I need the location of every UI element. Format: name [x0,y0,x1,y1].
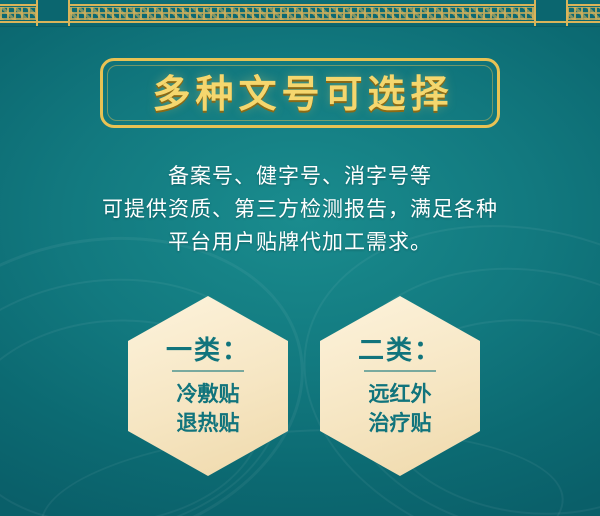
category-card-2-items: 远红外 治疗贴 [320,380,480,438]
border-rule-bottom [0,21,600,23]
category-card-1-heading: 一类： [128,330,288,367]
title-plaque: 多种文号可选择 [100,58,500,128]
category-card-2-item-1: 远红外 [320,380,480,409]
category-card-1-divider [172,370,244,372]
description-line-1: 备案号、健字号、消字号等 [30,160,570,193]
category-card-1-item-1: 冷敷贴 [128,380,288,409]
category-card-1: 一类： 冷敷贴 退热贴 [128,296,288,476]
category-card-1-items: 冷敷贴 退热贴 [128,380,288,438]
description-line-2: 可提供资质、第三方检测报告，满足各种 [30,193,570,226]
border-pattern-overlay [0,7,600,20]
page-title: 多种文号可选择 [103,61,503,131]
category-card-1-item-2: 退热贴 [128,409,288,438]
description-line-3: 平台用户贴牌代加工需求。 [30,226,570,259]
description-block: 备案号、健字号、消字号等 可提供资质、第三方检测报告，满足各种 平台用户贴牌代加… [30,160,570,259]
category-card-2-item-2: 治疗贴 [320,409,480,438]
category-card-2-divider [364,370,436,372]
ornamental-top-border [0,0,600,27]
border-rule-top [0,4,600,6]
category-card-2-heading: 二类： [320,330,480,367]
decorative-swirl [36,416,568,516]
category-card-2: 二类： 远红外 治疗贴 [320,296,480,476]
promo-poster: 多种文号可选择 备案号、健字号、消字号等 可提供资质、第三方检测报告，满足各种 … [0,0,600,516]
